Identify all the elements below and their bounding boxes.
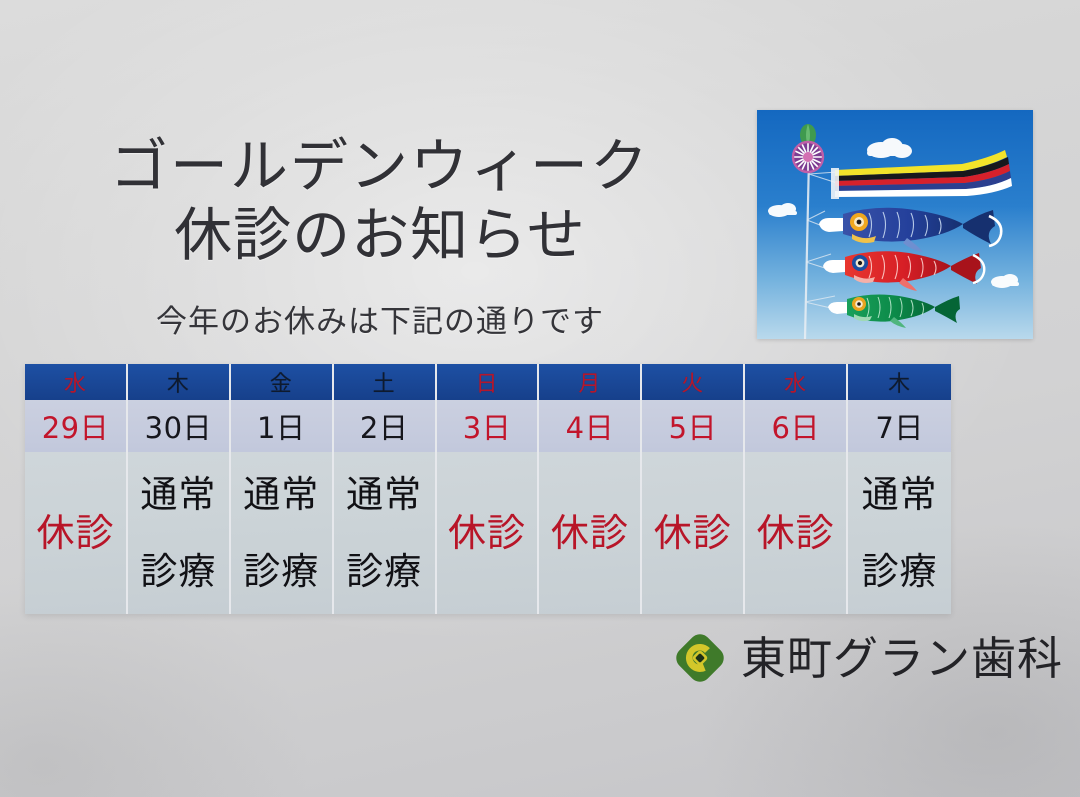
status-stack-4: 休診 (437, 452, 538, 614)
date-cell-6: 5日 (642, 400, 745, 452)
status-stack-1: 通常 診療 (128, 452, 229, 614)
status-cell-0: 休診 (25, 452, 128, 614)
higashimachi-gran-diamond-logo-icon (672, 630, 728, 686)
weekday-cell-4: 日 (437, 364, 540, 400)
clinic-name: 東町グラン歯科 (741, 636, 1063, 681)
date-cell-4: 3日 (437, 400, 540, 452)
title-line-1: ゴールデンウィーク (0, 132, 760, 201)
status-word: 通常 (346, 476, 422, 513)
koinobori-illustration (757, 110, 1033, 339)
status-cell-8: 通常 診療 (848, 452, 951, 614)
status-cell-5: 休診 (539, 452, 642, 614)
status-stack-3: 通常 診療 (334, 452, 435, 614)
date-cell-8: 7日 (848, 400, 951, 452)
status-stack-5: 休診 (539, 452, 640, 614)
status-stack-8: 通常 診療 (848, 452, 951, 614)
status-word: 診療 (862, 553, 938, 590)
weekday-cell-3: 土 (334, 364, 437, 400)
table-row-date: 29日 30日 1日 2日 3日 4日 5日 6日 7日 (25, 400, 951, 452)
weekday-cell-0: 水 (25, 364, 128, 400)
status-cell-4: 休診 (437, 452, 540, 614)
weekday-cell-8: 木 (848, 364, 951, 400)
date-cell-7: 6日 (745, 400, 848, 452)
weekday-cell-2: 金 (231, 364, 334, 400)
date-cell-5: 4日 (539, 400, 642, 452)
status-word: 通常 (140, 476, 216, 513)
table-row-status: 休診 通常 診療 通常 診療 通常 (25, 452, 951, 614)
status-word: 診療 (346, 553, 422, 590)
status-cell-3: 通常 診療 (334, 452, 437, 614)
status-cell-1: 通常 診療 (128, 452, 231, 614)
status-word: 通常 (862, 476, 938, 513)
date-cell-0: 29日 (25, 400, 128, 452)
status-stack-6: 休診 (642, 452, 743, 614)
holiday-schedule-table: 水 木 金 土 日 月 火 水 木 29日 30日 1日 2日 3日 4日 5日… (25, 364, 951, 614)
poster-subtitle: 今年のお休みは下記の通りです (0, 296, 760, 341)
status-word: 診療 (140, 553, 216, 590)
status-word: 休診 (448, 514, 526, 552)
date-cell-1: 30日 (128, 400, 231, 452)
status-word: 休診 (654, 514, 732, 552)
weekday-cell-7: 水 (745, 364, 848, 400)
status-word: 休診 (757, 514, 835, 552)
weekday-cell-5: 月 (539, 364, 642, 400)
date-cell-2: 1日 (231, 400, 334, 452)
status-cell-2: 通常 診療 (231, 452, 334, 614)
status-stack-2: 通常 診療 (231, 452, 332, 614)
status-cell-6: 休診 (642, 452, 745, 614)
weekday-cell-6: 火 (642, 364, 745, 400)
status-word: 休診 (551, 514, 629, 552)
status-stack-7: 休診 (745, 452, 846, 614)
title-line-2: 休診のお知らせ (0, 201, 760, 270)
clinic-logo: 東町グラン歯科 (672, 630, 1063, 686)
status-word: 診療 (243, 553, 319, 590)
status-word: 休診 (36, 514, 114, 552)
weekday-cell-1: 木 (128, 364, 231, 400)
poster-background: ゴールデンウィーク 休診のお知らせ 今年のお休みは下記の通りです (0, 0, 1080, 797)
status-stack-0: 休診 (25, 452, 126, 614)
status-word: 通常 (243, 476, 319, 513)
poster-headline: ゴールデンウィーク 休診のお知らせ (0, 132, 760, 270)
date-cell-3: 2日 (334, 400, 437, 452)
status-cell-7: 休診 (745, 452, 848, 614)
table-row-weekday: 水 木 金 土 日 月 火 水 木 (25, 364, 951, 400)
